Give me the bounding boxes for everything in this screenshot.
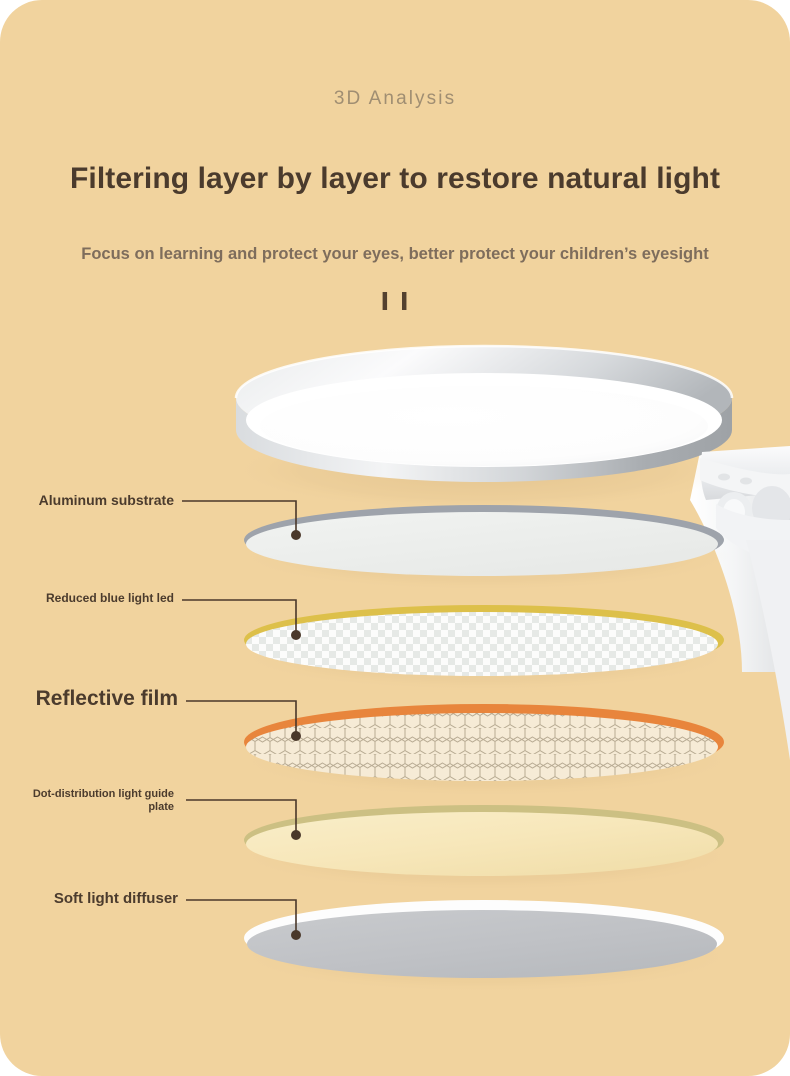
page-subtitle: Focus on learning and protect your eyes,…: [0, 245, 790, 264]
layer-reduced-blue-light-led: [242, 605, 730, 690]
callout-label-reduced-blue-light-led: Reduced blue light led: [24, 592, 174, 606]
product-feature-card: 3D Analysis Filtering layer by layer to …: [0, 0, 790, 1076]
section-eyebrow: 3D Analysis: [0, 88, 790, 110]
layer-soft-light-diffuser: [242, 900, 730, 992]
dot-reduced-blue-light-led: [291, 630, 301, 640]
layer-dot-distribution-light-guide-plate: [242, 805, 730, 890]
dot-soft-light-diffuser: [291, 930, 301, 940]
dot-light-guide-plate: [291, 830, 301, 840]
lamp-head: [236, 346, 732, 510]
page-title: Filtering layer by layer to restore natu…: [0, 162, 790, 196]
callout-label-reflective-film: Reflective film: [18, 687, 178, 711]
dot-reflective-film: [291, 731, 301, 741]
callout-dots: [291, 530, 301, 940]
layer-stack: [242, 505, 730, 992]
dot-aluminum-substrate: [291, 530, 301, 540]
callout-label-dot-distribution-light-guide-plate: Dot-distribution light guide plate: [24, 788, 174, 813]
callout-label-aluminum-substrate: Aluminum substrate: [24, 493, 174, 509]
layer-aluminum-substrate: [242, 505, 730, 590]
layer-reflective-film: [242, 704, 730, 796]
callout-label-soft-light-diffuser: Soft light diffuser: [18, 890, 178, 907]
quote-mark-icon: ❙❙: [0, 292, 790, 310]
